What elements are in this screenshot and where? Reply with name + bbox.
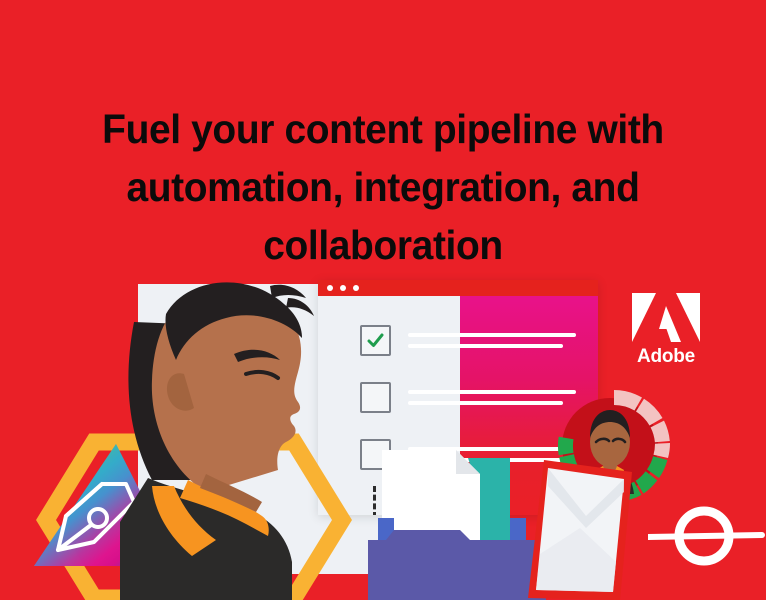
check-mark-icon [367, 332, 384, 349]
circle-line-mark [648, 490, 766, 586]
browser-titlebar [318, 280, 598, 296]
tilted-paper [524, 458, 644, 600]
checkbox-checked-icon[interactable] [360, 325, 391, 356]
adobe-wordmark: Adobe [629, 346, 703, 368]
man-profile-illustration [56, 262, 356, 600]
adobe-a-logo-icon [629, 292, 703, 346]
folder-front [368, 530, 546, 600]
text-line [408, 401, 563, 405]
page-title: Fuel your content pipeline with automati… [65, 100, 702, 274]
text-line [408, 390, 576, 394]
adobe-logo: Adobe [629, 292, 703, 370]
checklist-item[interactable] [360, 318, 590, 362]
checklist-item-lines [408, 333, 576, 348]
text-line [408, 344, 563, 348]
checkbox-empty-icon[interactable] [360, 382, 391, 413]
marketing-banner: Fuel your content pipeline with automati… [0, 0, 766, 600]
checklist-item-lines [408, 390, 576, 405]
text-line [408, 333, 576, 337]
